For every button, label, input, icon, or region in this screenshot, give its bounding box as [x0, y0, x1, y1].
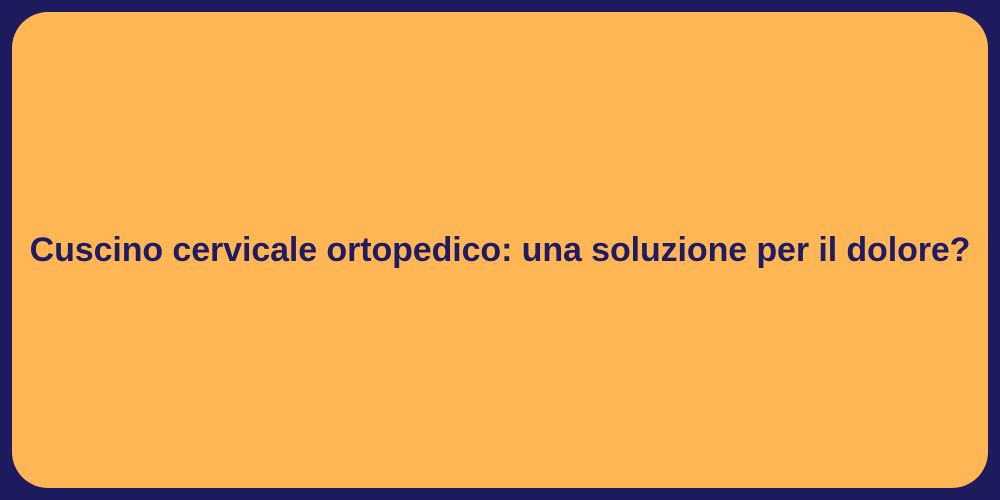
card-outer-frame: Cuscino cervicale ortopedico: una soluzi… — [0, 0, 1000, 500]
card-panel: Cuscino cervicale ortopedico: una soluzi… — [12, 12, 988, 488]
page-title: Cuscino cervicale ortopedico: una soluzi… — [30, 229, 971, 272]
